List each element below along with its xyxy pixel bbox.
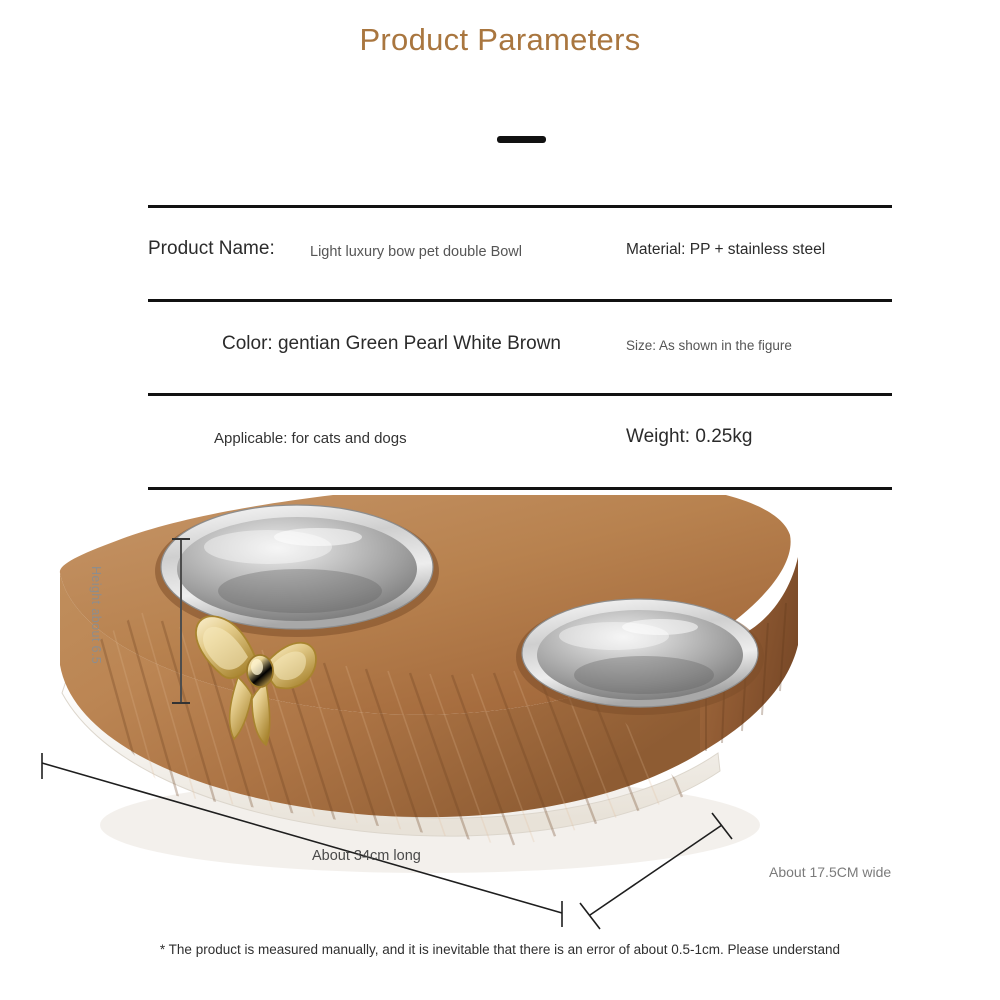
table-row: Color: gentian Green Pearl White Brown S… [148, 302, 892, 393]
table-cell-right: Size: As shown in the figure [626, 302, 892, 393]
spec-table: Product Name: Light luxury bow pet doubl… [148, 205, 892, 490]
table-rule-bottom [148, 487, 892, 490]
bowl-2-shade [574, 656, 714, 694]
color-value: Color: gentian Green Pearl White Brown [222, 333, 561, 355]
dimension-cap-bottom [172, 702, 190, 704]
table-cell-right: Weight: 0.25kg [626, 396, 892, 487]
dimension-label-height: Height about 6.5 [89, 566, 103, 686]
footnote: * The product is measured manually, and … [0, 942, 1000, 957]
page-title: Product Parameters [0, 22, 1000, 58]
table-cell-left: Product Name: Light luxury bow pet doubl… [148, 208, 626, 299]
bowl-1-shade [218, 569, 382, 613]
table-cell-left: Color: gentian Green Pearl White Brown [148, 302, 626, 393]
applicable-value: Applicable: for cats and dogs [214, 430, 407, 447]
bow-knot-highlight [251, 659, 263, 675]
dimension-cap-top [172, 538, 190, 540]
size-value: Size: As shown in the figure [626, 338, 792, 353]
table-row: Applicable: for cats and dogs Weight: 0.… [148, 396, 892, 487]
bowl-2-highlight-2 [622, 619, 698, 635]
product-name-value: Light luxury bow pet double Bowl [310, 244, 522, 260]
product-name-key: Product Name: [148, 238, 275, 260]
table-row: Product Name: Light luxury bow pet doubl… [148, 208, 892, 299]
dimension-line-height [180, 538, 182, 704]
weight-value: Weight: 0.25kg [626, 426, 752, 448]
dimension-label-width: About 17.5CM wide [769, 864, 891, 880]
dimension-label-length: About 34cm long [312, 848, 421, 864]
bowl-1-highlight-2 [274, 528, 362, 546]
material-value: Material: PP + stainless steel [626, 241, 825, 259]
table-cell-left: Applicable: for cats and dogs [148, 396, 626, 487]
table-cell-right: Material: PP + stainless steel [626, 208, 892, 299]
product-parameters-page: Product Parameters Product Name: Light l… [0, 0, 1000, 1000]
title-divider-bar [497, 136, 546, 143]
